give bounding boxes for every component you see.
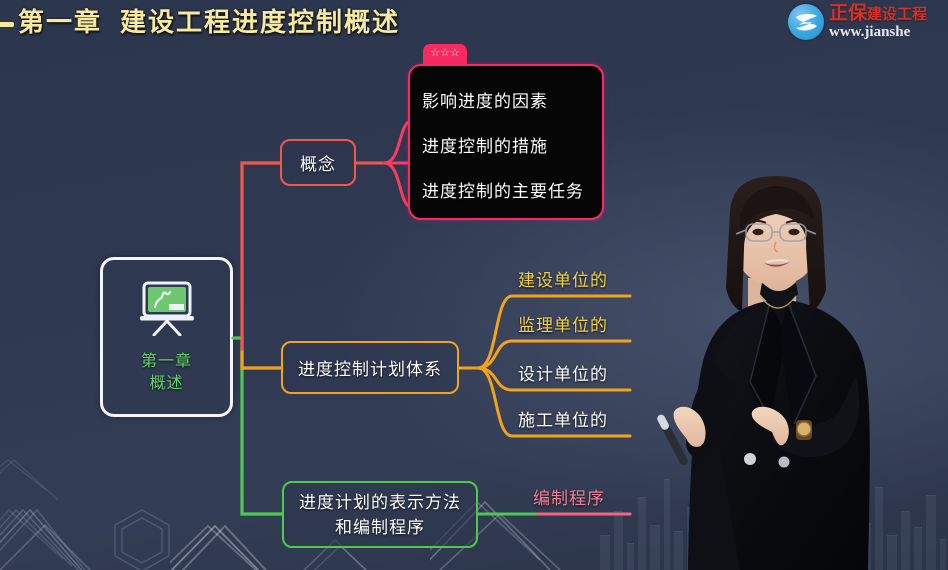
instructor-video-overlay — [620, 170, 948, 570]
brand-url: www.jianshe — [829, 25, 927, 41]
chapter-label: 第一章 — [18, 8, 102, 38]
brand-name: 正保建设工程 — [829, 4, 927, 24]
lecture-slide-screen: 第一章建设工程进度控制概述 正保建设工程 www.jianshe — [0, 0, 948, 570]
page-title: 第一章建设工程进度控制概述 — [8, 2, 400, 39]
z-swoosh-logo-icon — [788, 4, 824, 40]
plan-system-item-4[interactable]: 施工单位的 — [518, 406, 608, 431]
method-item-1[interactable]: 编制程序 — [533, 484, 605, 509]
plan-system-item-2[interactable]: 监理单位的 — [518, 311, 608, 336]
brand-text: 正保建设工程 www.jianshe — [829, 4, 927, 41]
concept-item-2[interactable]: 进度控制的措施 — [422, 132, 548, 157]
concept-item-3[interactable]: 进度控制的主要任务 — [422, 177, 584, 202]
plan-system-item-1[interactable]: 建设单位的 — [518, 266, 608, 291]
star-rating-icon: ☆☆☆ — [430, 47, 460, 59]
slide-header: 第一章建设工程进度控制概述 正保建设工程 www.jianshe — [0, 0, 948, 44]
brand-logo[interactable]: 正保建设工程 www.jianshe — [788, 2, 948, 42]
concept-item-1[interactable]: 影响进度的因素 — [422, 87, 548, 112]
plan-system-item-3[interactable]: 设计单位的 — [518, 360, 608, 385]
leading-dash-icon — [0, 22, 14, 27]
chapter-title-text: 建设工程进度控制概述 — [120, 8, 400, 38]
